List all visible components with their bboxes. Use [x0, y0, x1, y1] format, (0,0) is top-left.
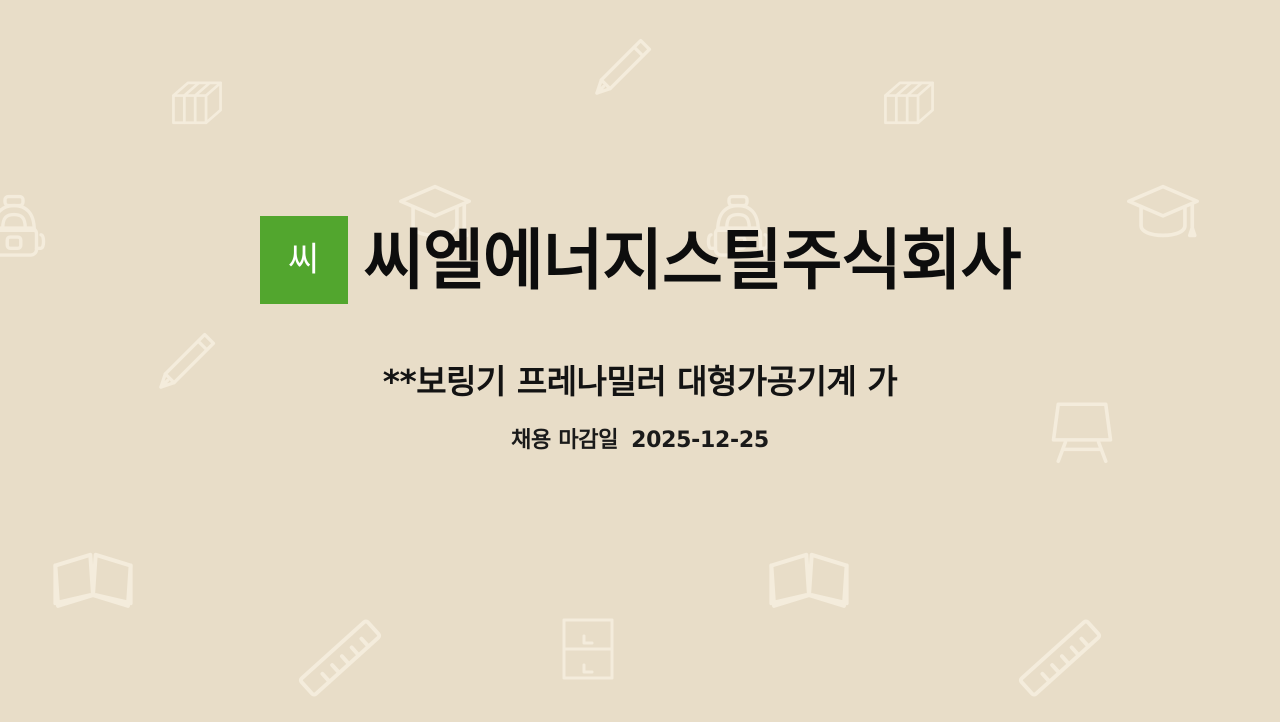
deadline-label: 채용 마감일 — [511, 422, 618, 454]
job-title: **보링기 프레나밀러 대형가공기계 가 — [383, 362, 897, 402]
deadline-row: 채용 마감일 2025-12-25 — [511, 422, 769, 454]
deadline-date: 2025-12-25 — [631, 428, 769, 453]
job-posting-card: 씨 씨엘에너지스틸주식회사 **보링기 프레나밀러 대형가공기계 가 채용 마감… — [0, 0, 1280, 722]
company-name: 씨엘에너지스틸주식회사 — [364, 226, 1021, 295]
company-logo-badge: 씨 — [260, 216, 348, 304]
company-title-row: 씨 씨엘에너지스틸주식회사 — [260, 216, 1021, 304]
card-content: 씨 씨엘에너지스틸주식회사 **보링기 프레나밀러 대형가공기계 가 채용 마감… — [0, 0, 1280, 722]
company-logo-letter: 씨 — [288, 243, 319, 277]
